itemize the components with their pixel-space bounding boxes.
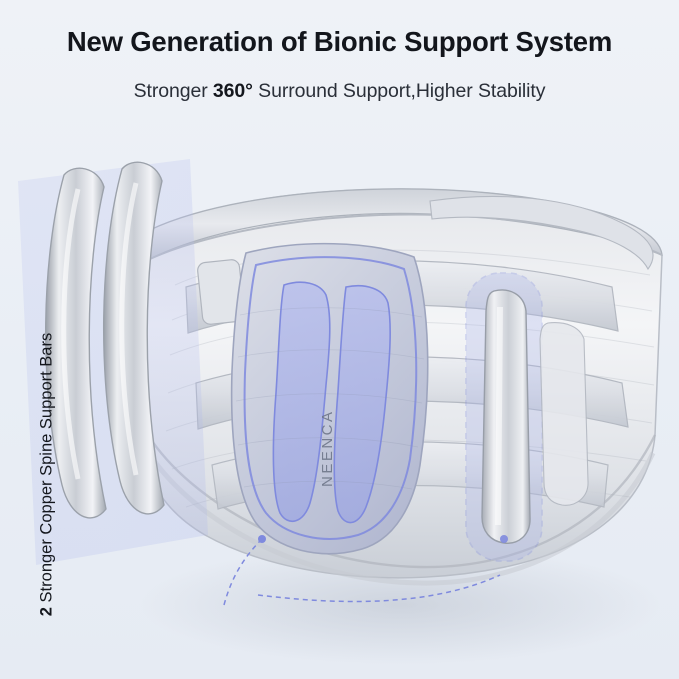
subtitle-post: Surround Support,Higher Stability xyxy=(253,80,546,102)
label-spine-text: Stronger Copper Spine Support Bars xyxy=(38,333,56,607)
label-spine-support-bars: 2 Stronger Copper Spine Support Bars xyxy=(38,310,57,640)
lumbar-pad: NEENCA xyxy=(232,244,428,554)
belt-illustration: NEENCA xyxy=(0,135,679,679)
product-image: NEENCA xyxy=(0,135,679,679)
page-title: New Generation of Bionic Support System xyxy=(0,26,679,58)
subtitle-pre: Stronger xyxy=(134,80,213,102)
brand-label: NEENCA xyxy=(319,409,336,487)
stabilizer-pocket xyxy=(540,323,588,506)
subtitle-degrees: 360° xyxy=(213,80,253,102)
memory-aluminum-stabilizers xyxy=(466,273,542,561)
page-subtitle: Stronger 360° Surround Support,Higher St… xyxy=(0,80,679,103)
product-infographic: New Generation of Bionic Support System … xyxy=(0,0,679,679)
label-spine-count: 2 xyxy=(38,607,56,616)
